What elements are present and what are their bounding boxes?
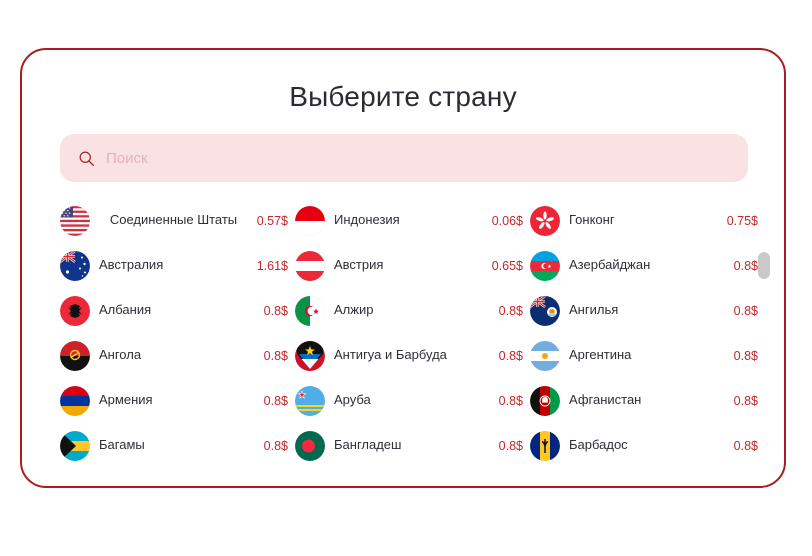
- country-price: 0.8$: [485, 439, 526, 453]
- list-item[interactable]: Гонконг 0.75$: [530, 198, 761, 243]
- country-price: 0.8$: [720, 394, 761, 408]
- list-item[interactable]: Антигуа и Барбуда 0.8$: [295, 333, 526, 378]
- country-name: Аруба: [325, 392, 485, 408]
- list-item[interactable]: Аруба 0.8$: [295, 378, 526, 423]
- country-name: Ангилья: [560, 302, 720, 318]
- list-item[interactable]: Багамы 0.8$: [60, 423, 291, 468]
- country-name: Барбадос: [560, 437, 720, 453]
- country-columns: Соединенные Штаты 0.57$: [22, 198, 784, 468]
- country-select-modal: Выберите страну Поиск: [20, 48, 786, 488]
- search-input[interactable]: Поиск: [60, 134, 748, 182]
- search-field-wrapper: Поиск: [60, 134, 748, 182]
- search-icon: [78, 150, 95, 167]
- country-name: Соединенные Штаты: [90, 212, 250, 228]
- country-name: Азербайджан: [560, 257, 720, 273]
- flag-bd-icon: [295, 431, 325, 461]
- country-price: 0.65$: [485, 259, 526, 273]
- country-name: Аргентина: [560, 347, 720, 363]
- page-title: Выберите страну: [22, 50, 784, 113]
- country-list: Соединенные Штаты 0.57$: [22, 198, 784, 484]
- country-name: Афганистан: [560, 392, 720, 408]
- country-name: Антигуа и Барбуда: [325, 347, 485, 363]
- country-price: 0.8$: [250, 304, 291, 318]
- country-column-2: Индонезия 0.06$ Австрия 0.65$: [295, 198, 526, 468]
- flag-au-icon: [60, 251, 90, 281]
- country-price: 0.8$: [720, 259, 761, 273]
- country-price: 0.8$: [485, 349, 526, 363]
- list-item[interactable]: Австрия 0.65$: [295, 243, 526, 288]
- country-price: 0.06$: [485, 214, 526, 228]
- list-item[interactable]: Соединенные Штаты 0.57$: [60, 198, 291, 243]
- flag-aw-icon: [295, 386, 325, 416]
- country-name: Алжир: [325, 302, 485, 318]
- flag-us-icon: [60, 206, 90, 236]
- flag-bb-icon: [530, 431, 560, 461]
- country-column-1: Соединенные Штаты 0.57$: [60, 198, 291, 468]
- country-price: 0.8$: [250, 349, 291, 363]
- country-price: 0.8$: [720, 349, 761, 363]
- flag-az-icon: [530, 251, 560, 281]
- list-item[interactable]: Ангола 0.8$: [60, 333, 291, 378]
- country-price: 0.8$: [720, 304, 761, 318]
- list-scrollbar[interactable]: [758, 202, 770, 482]
- country-price: 0.8$: [250, 394, 291, 408]
- flag-dz-icon: [295, 296, 325, 326]
- flag-ai-icon: [530, 296, 560, 326]
- flag-bs-icon: [60, 431, 90, 461]
- list-item[interactable]: Азербайджан 0.8$: [530, 243, 761, 288]
- flag-af-icon: [530, 386, 560, 416]
- country-name: Албания: [90, 302, 250, 318]
- flag-ar-icon: [530, 341, 560, 371]
- country-price: 0.75$: [720, 214, 761, 228]
- country-name: Ангола: [90, 347, 250, 363]
- country-name: Гонконг: [560, 212, 720, 228]
- country-price: 0.57$: [250, 214, 291, 228]
- search-placeholder: Поиск: [106, 150, 148, 167]
- list-item[interactable]: Бангладеш 0.8$: [295, 423, 526, 468]
- list-item[interactable]: Афганистан 0.8$: [530, 378, 761, 423]
- list-item[interactable]: Австралия 1.61$: [60, 243, 291, 288]
- list-item[interactable]: Аргентина 0.8$: [530, 333, 761, 378]
- country-price: 0.8$: [485, 394, 526, 408]
- list-item[interactable]: Барбадос 0.8$: [530, 423, 761, 468]
- country-name: Австралия: [90, 257, 250, 273]
- scrollbar-thumb[interactable]: [758, 252, 770, 279]
- list-item[interactable]: Индонезия 0.06$: [295, 198, 526, 243]
- country-name: Бангладеш: [325, 437, 485, 453]
- country-name: Австрия: [325, 257, 485, 273]
- list-item[interactable]: Албания 0.8$: [60, 288, 291, 333]
- country-name: Армения: [90, 392, 250, 408]
- flag-ag-icon: [295, 341, 325, 371]
- country-price: 0.8$: [485, 304, 526, 318]
- country-name: Багамы: [90, 437, 250, 453]
- list-item[interactable]: Армения 0.8$: [60, 378, 291, 423]
- country-price: 0.8$: [250, 439, 291, 453]
- list-item[interactable]: Ангилья 0.8$: [530, 288, 761, 333]
- flag-id-icon: [295, 206, 325, 236]
- flag-hk-icon: [530, 206, 560, 236]
- flag-ao-icon: [60, 341, 90, 371]
- flag-am-icon: [60, 386, 90, 416]
- flag-at-icon: [295, 251, 325, 281]
- country-price: 0.8$: [720, 439, 761, 453]
- country-price: 1.61$: [250, 259, 291, 273]
- flag-al-icon: [60, 296, 90, 326]
- country-name: Индонезия: [325, 212, 485, 228]
- country-column-3: Гонконг 0.75$: [530, 198, 761, 468]
- list-item[interactable]: Алжир 0.8$: [295, 288, 526, 333]
